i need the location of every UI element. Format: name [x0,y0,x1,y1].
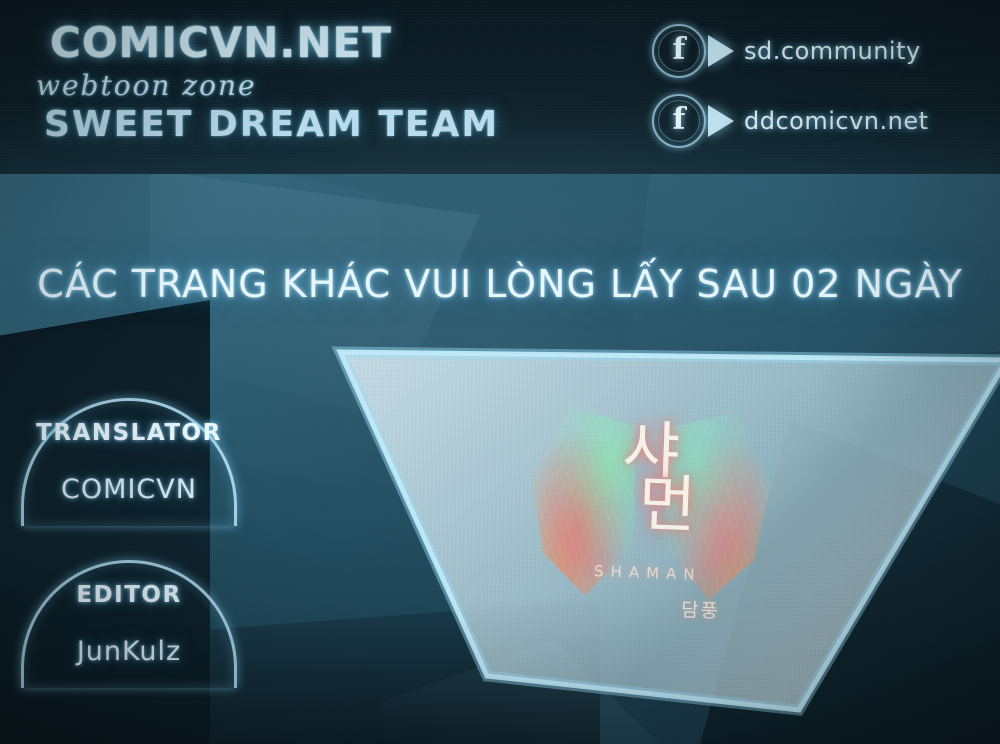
comic-credits-page: COMICVN.NET webtoon zone SWEET DREAM TEA… [0,0,1000,744]
image-vignette-overlay [0,0,1000,744]
